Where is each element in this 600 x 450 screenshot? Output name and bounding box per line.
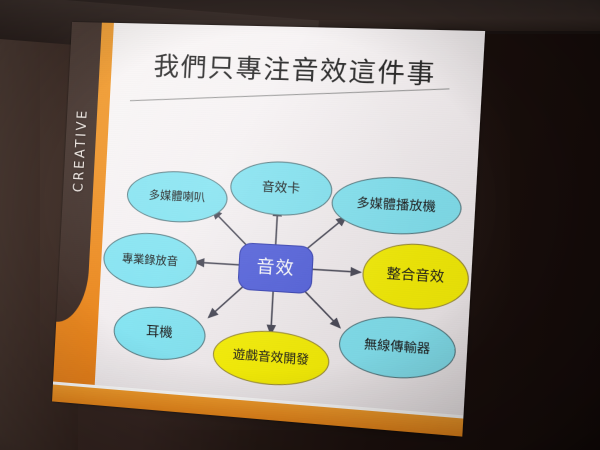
- slide-title: 我們只專注音效這件事: [127, 45, 466, 92]
- node-integrated-audio-label: 整合音效: [386, 267, 444, 286]
- projection-screen: CREATIVE 我們只專注音效這件事: [52, 22, 485, 437]
- slide-canvas: 我們只專注音效這件事: [95, 23, 485, 415]
- mind-map-diagram: 音效 音效卡 多媒體播放機 多媒體喇叭: [96, 106, 481, 397]
- node-headphones-label: 耳機: [146, 325, 173, 341]
- node-game-audio-label: 遊戲音效開發: [232, 348, 309, 367]
- node-sound-card-label: 音效卡: [261, 181, 300, 196]
- node-speakers-label: 多媒體喇叭: [148, 189, 205, 204]
- node-media-player-label: 多媒體播放機: [356, 197, 436, 215]
- presentation-slide: CREATIVE 我們只專注音效這件事: [52, 22, 485, 437]
- arrow-to-wireless: [299, 287, 342, 327]
- arrow-to-speakers: [210, 210, 249, 247]
- arrow-to-headphones: [209, 282, 246, 320]
- arrow-to-game-audio: [271, 288, 274, 334]
- photo-scene: CREATIVE 我們只專注音效這件事: [0, 0, 600, 450]
- node-pro-recording-label: 專業錄放音: [122, 253, 179, 269]
- arrow-to-pro-recording: [195, 262, 245, 265]
- node-center-label: 音效: [256, 257, 295, 279]
- node-wireless-label: 無線傳輸器: [364, 338, 431, 357]
- node-center[interactable]: 音效: [237, 242, 314, 294]
- arrow-to-media-player: [305, 215, 346, 253]
- title-underline: [130, 88, 450, 101]
